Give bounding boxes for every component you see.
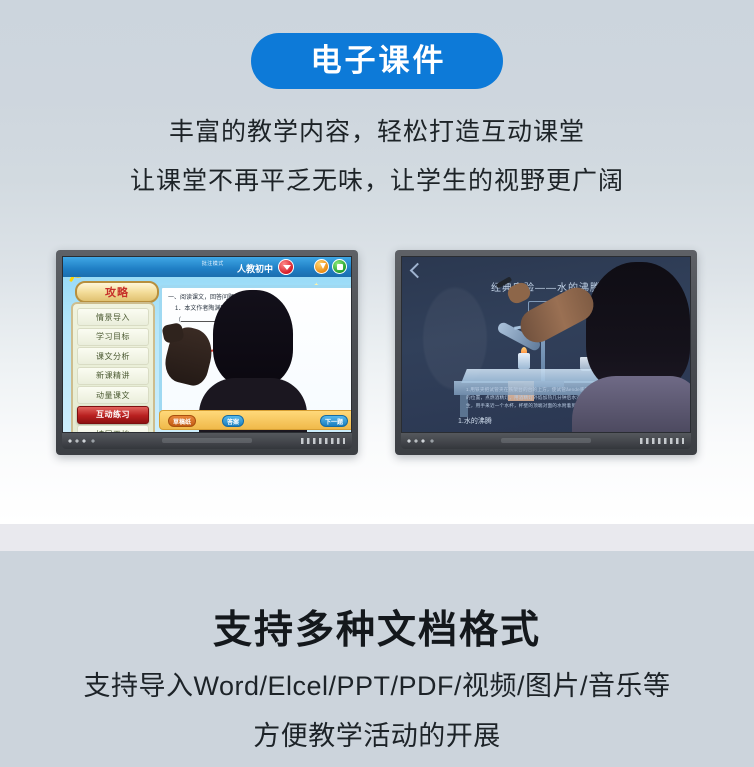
menu-item-5-active[interactable]: 互动练习 <box>77 406 149 424</box>
brand-plate <box>162 438 252 443</box>
interactive-whiteboard-left: ✦ ✦ ✦ ✦ 批注模式 人教初中 攻略 <box>56 250 358 455</box>
hero-badge: 电子课件 <box>251 33 503 89</box>
menu-item-label: 课文分析 <box>96 351 130 362</box>
hero-subtitle-line-2: 让课堂不再平乏无味，让学生的视野更广阔 <box>0 161 754 197</box>
answer-label: 答案 <box>227 417 239 426</box>
menu-item-3[interactable]: 新课精讲 <box>77 367 149 385</box>
menu-item-label: 动量课文 <box>96 390 130 401</box>
next-question-button[interactable]: 下一题 <box>320 415 348 427</box>
courseware-title-text: 攻略 <box>105 284 129 300</box>
lesson-menu-panel: 情景导入 学习目标 课文分析 新课精讲 动量课文 <box>71 302 155 433</box>
courseware-title-plate: 攻略 <box>75 281 159 303</box>
bottom-section-line-2: 方便教学活动的开展 <box>0 714 754 753</box>
hero-badge-wrapper: 电子课件 <box>0 33 754 89</box>
experiment-caption: 1.水的沸腾 <box>458 416 492 426</box>
screen-right: 经典实验——水的沸腾 1.用铁夹把试管夹在铁架台的台的上方，使试管 <box>401 256 691 433</box>
menu-item-4[interactable]: 动量课文 <box>77 386 149 404</box>
download-icon[interactable] <box>314 259 329 274</box>
teacher-shoulder <box>572 376 691 432</box>
draft-paper-button[interactable]: 草稿纸 <box>168 415 196 427</box>
courseware-topbar: 批注模式 人教初中 <box>63 257 351 277</box>
draft-paper-label: 草稿纸 <box>173 417 191 426</box>
menu-item-1[interactable]: 学习目标 <box>77 328 149 346</box>
volume-icon[interactable] <box>332 259 347 274</box>
bottom-section-line-1: 支持导入Word/Elcel/PPT/PDF/视频/图片/音乐等 <box>0 664 754 703</box>
menu-item-2[interactable]: 课文分析 <box>77 347 149 365</box>
top-section: 电子课件 丰富的教学内容，轻松打造互动课堂 让课堂不再平乏无味，让学生的视野更广… <box>0 0 754 524</box>
teacher-hair <box>586 262 690 390</box>
textbook-selector-label[interactable]: 人教初中 <box>237 262 273 275</box>
alcohol-burner <box>518 353 530 369</box>
chevron-down-icon[interactable] <box>278 259 294 275</box>
section-divider <box>0 524 754 551</box>
bottom-section: 支持多种文档格式 支持导入Word/Elcel/PPT/PDF/视频/图片/音乐… <box>0 551 754 767</box>
annotation-mode-label: 批注模式 <box>202 260 224 267</box>
brand-dots-icon <box>68 438 102 444</box>
courseware-ui-left: ✦ ✦ ✦ ✦ 批注模式 人教初中 攻略 <box>63 257 351 432</box>
menu-item-label: 学习目标 <box>96 331 130 342</box>
teacher-silhouette <box>566 256 691 432</box>
promo-page: 电子课件 丰富的教学内容，轻松打造互动课堂 让课堂不再平乏无味，让学生的视野更广… <box>0 0 754 767</box>
worksheet-action-bar: 草稿纸 答案 下一题 <box>159 410 352 430</box>
student-head <box>213 290 293 386</box>
next-question-label: 下一题 <box>325 417 343 426</box>
menu-item-0[interactable]: 情景导入 <box>77 308 149 326</box>
answer-button[interactable]: 答案 <box>222 415 244 427</box>
interactive-whiteboard-right: 经典实验——水的沸腾 1.用铁夹把试管夹在铁架台的台的上方，使试管 <box>395 250 697 455</box>
courseware-ui-right: 经典实验——水的沸腾 1.用铁夹把试管夹在铁架台的台的上方，使试管 <box>402 257 690 432</box>
hero-subtitle-line-1: 丰富的教学内容，轻松打造互动课堂 <box>0 112 754 148</box>
screen-left: ✦ ✦ ✦ ✦ 批注模式 人教初中 攻略 <box>62 256 352 433</box>
bottom-section-title: 支持多种文档格式 <box>0 599 754 655</box>
menu-item-label: 情景导入 <box>96 312 130 323</box>
monitor-chin-right <box>401 433 691 449</box>
ports-icon <box>640 438 684 444</box>
menu-item-label: 新课精讲 <box>96 370 130 381</box>
menu-item-label: 互动练习 <box>96 409 130 420</box>
ports-icon <box>301 438 345 444</box>
monitor-chin-left <box>62 433 352 449</box>
menu-item-6[interactable]: 扩展天地 <box>77 425 149 433</box>
brand-plate <box>501 438 591 443</box>
brand-dots-icon <box>407 438 441 444</box>
